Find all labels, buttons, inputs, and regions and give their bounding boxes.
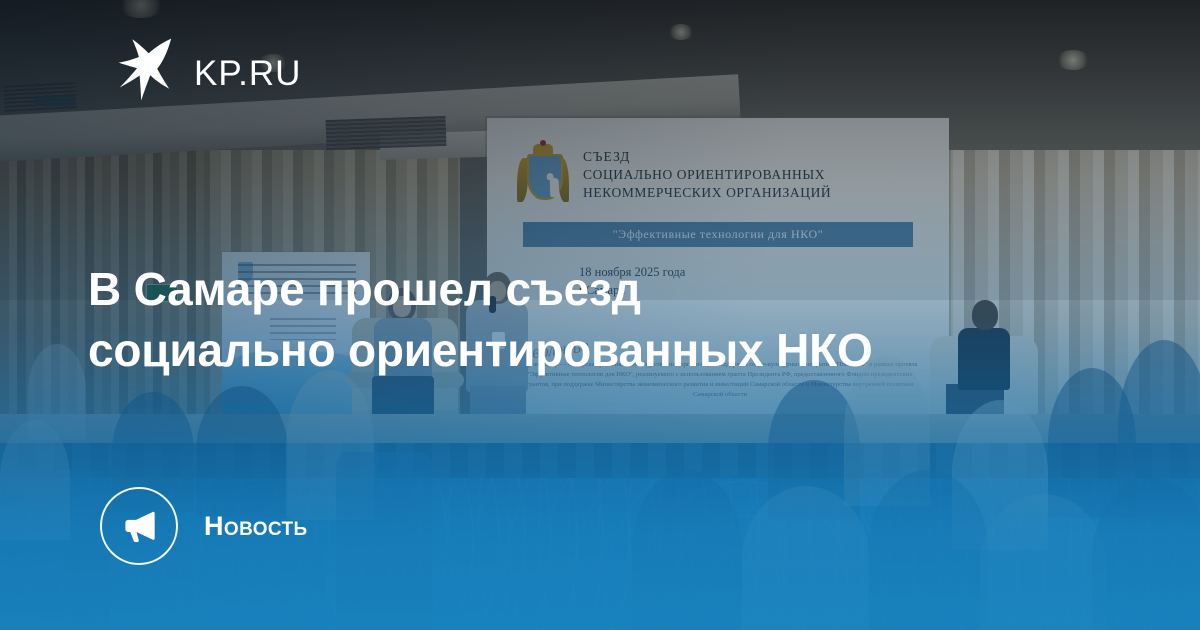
headline-line-1: В Самаре прошел съезд [88,259,1098,321]
page-title: В Самаре прошел съезд социально ориентир… [88,259,1098,382]
status-badge[interactable]: Новость [100,487,308,565]
badge-label: Новость [204,511,308,542]
brand-name: KP.RU [194,56,301,91]
swallow-bird-icon [108,36,172,110]
badge-icon-circle [100,487,178,565]
headline-line-2: социально ориентированных НКО [88,320,1098,382]
social-share-card: СЪЕЗД СОЦИАЛЬНО ОРИЕНТИРОВАННЫХ НЕКОММЕР… [0,0,1200,630]
megaphone-icon [120,507,158,545]
brand-lockup[interactable]: KP.RU [108,36,301,110]
